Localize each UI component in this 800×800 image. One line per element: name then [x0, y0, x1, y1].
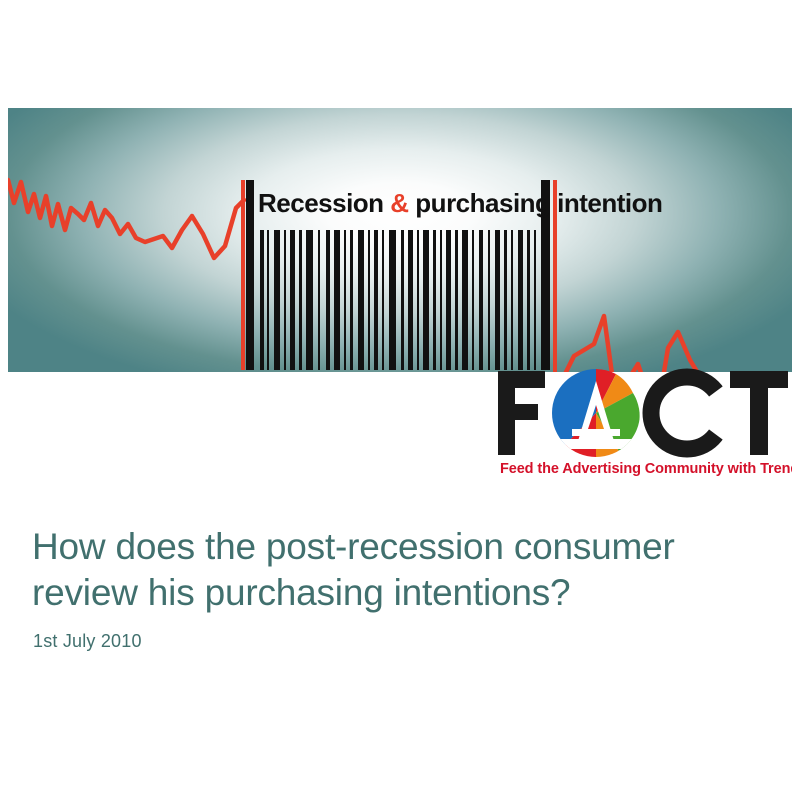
publication-date: 1st July 2010	[33, 629, 142, 653]
recession-line-left	[8, 180, 244, 258]
barcode-guard-left	[241, 180, 245, 370]
fact-logo: Feed the Advertising Community with Tren…	[492, 367, 792, 479]
barcode-label-ampersand: &	[390, 188, 408, 218]
page-title-line-1: How does the post-recession consumer	[32, 524, 752, 570]
barcode-label-part1: Recession	[258, 188, 390, 218]
barcode-label: Recession & purchasing intention	[258, 188, 662, 218]
page-title: How does the post-recession consumer rev…	[32, 524, 752, 616]
page-title-line-2: review his purchasing intentions?	[32, 570, 752, 616]
hero-banner: Recession & purchasing intention	[8, 108, 792, 372]
logo-tagline: Feed the Advertising Community with Tren…	[500, 461, 792, 477]
logo-letter-f	[498, 371, 545, 455]
banner-graphic: Recession & purchasing intention	[8, 108, 792, 372]
logo-letter-a	[547, 369, 640, 458]
barcode-label-part2: purchasing intention	[409, 188, 663, 218]
fact-logo-graphic: Feed the Advertising Community with Tren…	[492, 367, 792, 479]
recession-line-right	[556, 316, 792, 372]
